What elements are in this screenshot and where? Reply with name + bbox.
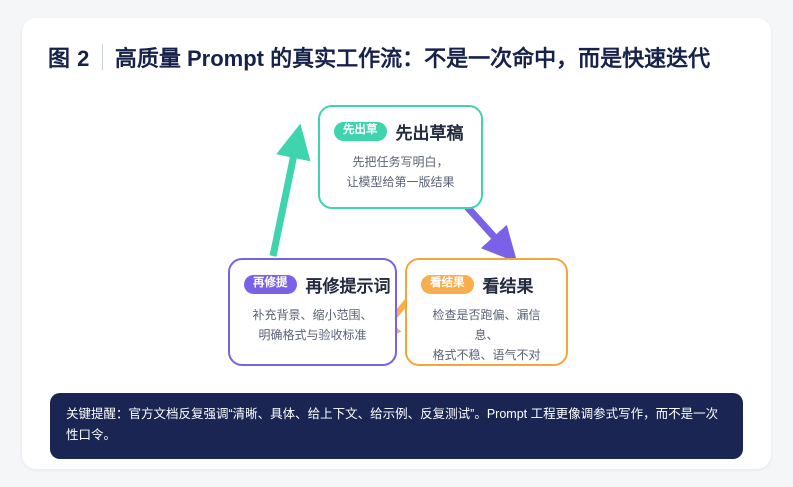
card-header: 再修提 再修提示词 (244, 272, 381, 297)
flow-card-draft[interactable]: 先出草 先出草稿 先把任务写明白， 让模型给第一版结果 (318, 105, 483, 209)
key-reminder-banner: 关键提醒：官方文档反复强调“清晰、具体、给上下文、给示例、反复测试”。Promp… (50, 393, 743, 459)
card-description: 检查是否跑偏、漏信息、 格式不稳、语气不对 (421, 306, 552, 365)
status-badge: 再修提 (244, 275, 297, 294)
card-description: 补充背景、缩小范围、 明确格式与验收标准 (244, 306, 381, 346)
card-header: 看结果 看结果 (421, 272, 552, 297)
status-badge: 先出草 (334, 122, 387, 141)
arrow-revise-to-draft (273, 140, 297, 256)
flow-card-revise[interactable]: 再修提 再修提示词 补充背景、缩小范围、 明确格式与验收标准 (228, 258, 397, 366)
card-title: 看结果 (483, 272, 534, 297)
screenshot-canvas: 图 2 高质量 Prompt 的真实工作流：不是一次命中，而是快速迭代 (0, 0, 793, 487)
card-header: 先出草 先出草稿 (334, 119, 467, 144)
card-title: 先出草稿 (396, 119, 464, 144)
figure-panel: 图 2 高质量 Prompt 的真实工作流：不是一次命中，而是快速迭代 (22, 18, 771, 469)
card-description: 先把任务写明白， 让模型给第一版结果 (334, 153, 467, 193)
flow-card-review[interactable]: 看结果 看结果 检查是否跑偏、漏信息、 格式不稳、语气不对 (405, 258, 568, 366)
card-title: 再修提示词 (306, 272, 391, 297)
status-badge: 看结果 (421, 275, 474, 294)
